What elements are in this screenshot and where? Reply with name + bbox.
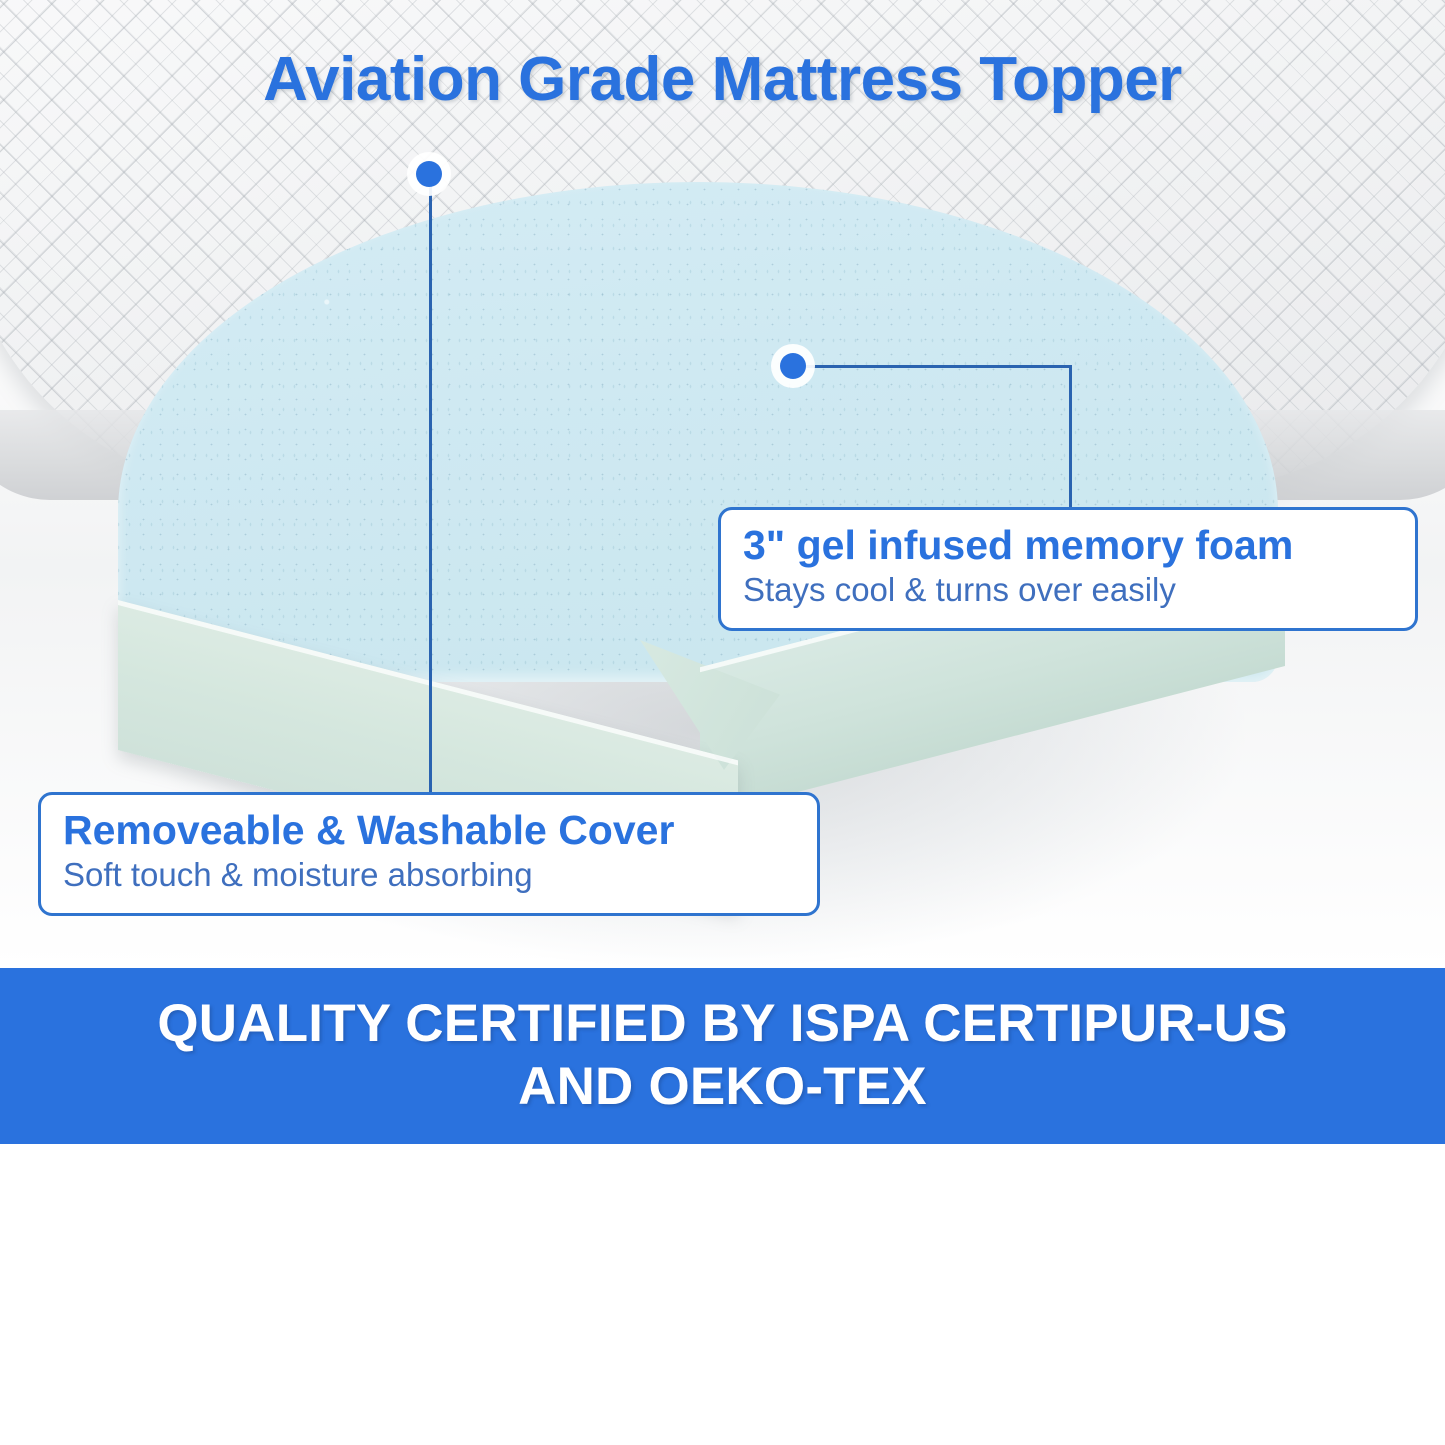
callout-dot-foam: [780, 353, 806, 379]
certification-banner-text: QUALITY CERTIFIED BY ISPA CERTIPUR-US AN…: [117, 993, 1327, 1118]
leader-line-foam-vertical: [1069, 365, 1072, 510]
product-infographic: Aviation Grade Mattress Topper 3" gel in…: [0, 0, 1445, 1445]
certification-banner: QUALITY CERTIFIED BY ISPA CERTIPUR-US AN…: [0, 968, 1445, 1144]
callout-washable-cover-subtitle: Soft touch & moisture absorbing: [63, 856, 795, 894]
banner-line-2: AND OEKO-TEX: [157, 1056, 1287, 1119]
leader-line-foam-horizontal: [800, 365, 1072, 368]
callout-washable-cover-title: Removeable & Washable Cover: [63, 809, 795, 852]
page-title: Aviation Grade Mattress Topper: [0, 44, 1445, 115]
callout-washable-cover: Removeable & Washable Cover Soft touch &…: [38, 792, 820, 916]
leader-line-cover: [429, 176, 432, 794]
callout-dot-cover: [416, 161, 442, 187]
product-scene: Aviation Grade Mattress Topper 3" gel in…: [0, 0, 1445, 968]
callout-gel-foam-subtitle: Stays cool & turns over easily: [743, 571, 1393, 609]
banner-line-1: QUALITY CERTIFIED BY ISPA CERTIPUR-US: [157, 993, 1287, 1056]
callout-gel-foam-title: 3" gel infused memory foam: [743, 524, 1393, 567]
callout-gel-foam: 3" gel infused memory foam Stays cool & …: [718, 507, 1418, 631]
badges-row: ISPA INTERNATIONAL SLEEP PRODUCTS ASSOCI…: [0, 1144, 1445, 1445]
